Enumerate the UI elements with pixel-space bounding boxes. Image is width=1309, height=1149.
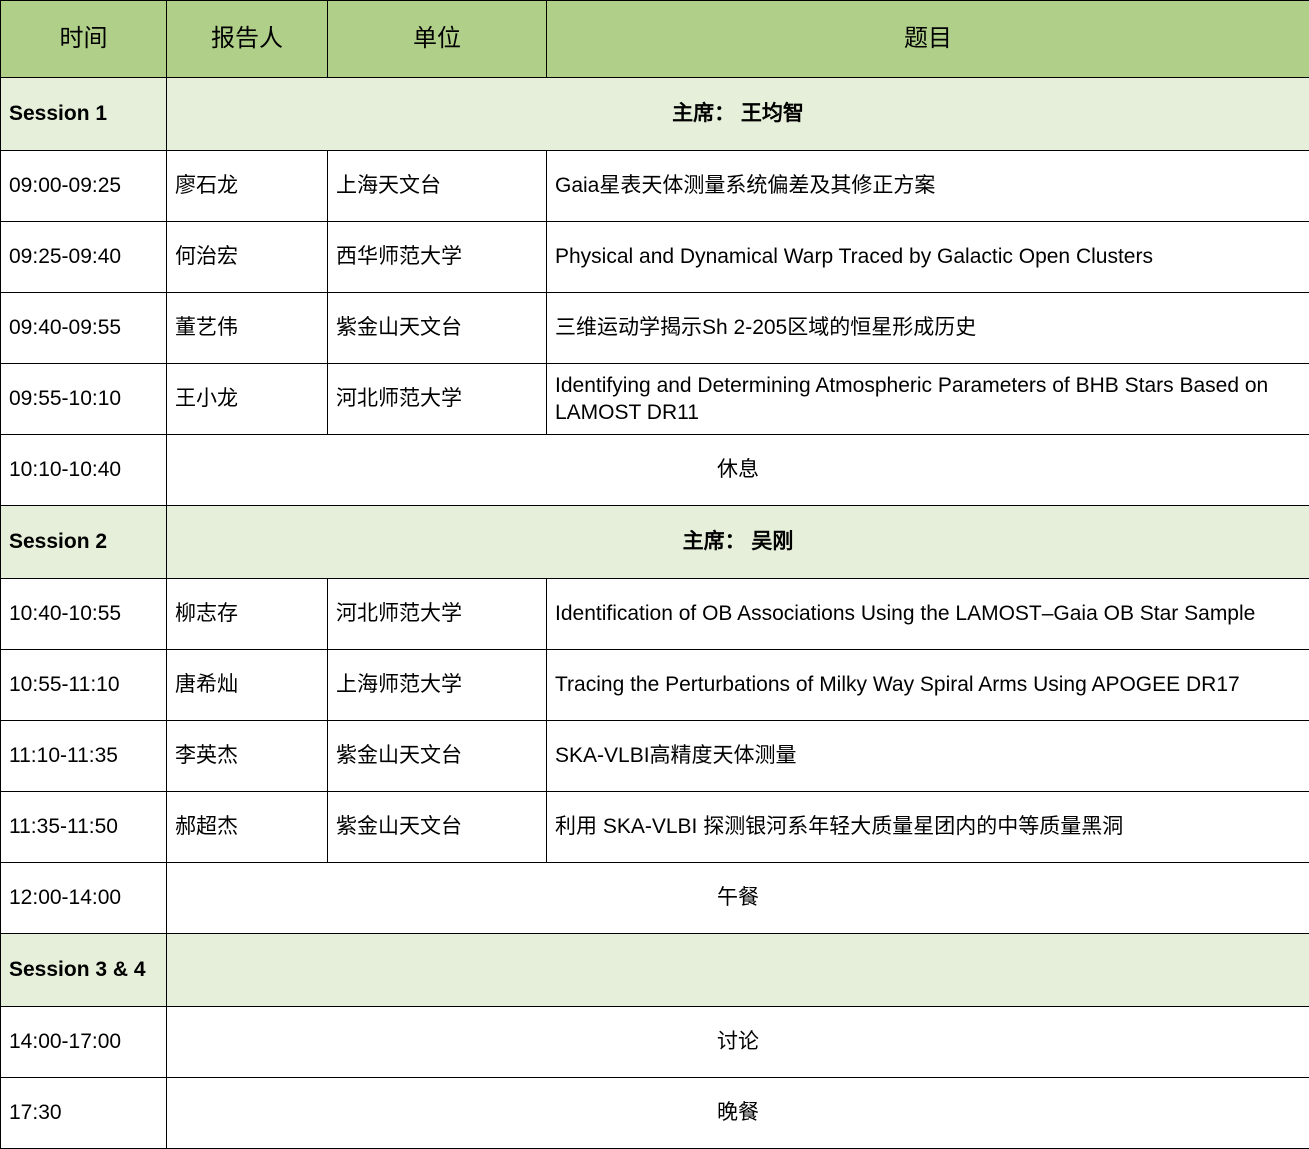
talk-speaker: 董艺伟 (167, 293, 328, 364)
talk-speaker: 唐希灿 (167, 650, 328, 721)
session-label-2: Session 2 (1, 506, 167, 579)
talk-speaker: 廖石龙 (167, 151, 328, 222)
table-row: 10:55-11:10 唐希灿 上海师范大学 Tracing the Pertu… (1, 650, 1309, 721)
break-label: 晚餐 (167, 1078, 1309, 1149)
talk-title: SKA-VLBI高精度天体测量 (547, 721, 1309, 792)
talk-affiliation: 河北师范大学 (328, 364, 547, 435)
break-label: 讨论 (167, 1007, 1309, 1078)
table-row: 09:00-09:25 廖石龙 上海天文台 Gaia星表天体测量系统偏差及其修正… (1, 151, 1309, 222)
break-time: 14:00-17:00 (1, 1007, 167, 1078)
break-row-dinner: 17:30 晚餐 (1, 1078, 1309, 1149)
table-row: 09:55-10:10 王小龙 河北师范大学 Identifying and D… (1, 364, 1309, 435)
session-chair-3-4 (167, 934, 1309, 1007)
talk-title: Identifying and Determining Atmospheric … (547, 364, 1309, 435)
table-row: 10:40-10:55 柳志存 河北师范大学 Identification of… (1, 579, 1309, 650)
table-header-row: 时间 报告人 单位 题目 (1, 1, 1309, 78)
column-header-name: 报告人 (167, 1, 328, 78)
talk-speaker: 郝超杰 (167, 792, 328, 863)
session-chair-1: 主席： 王均智 (167, 78, 1309, 151)
talk-time: 09:55-10:10 (1, 364, 167, 435)
talk-time: 09:40-09:55 (1, 293, 167, 364)
break-time: 17:30 (1, 1078, 167, 1149)
table-row: 09:40-09:55 董艺伟 紫金山天文台 三维运动学揭示Sh 2-205区域… (1, 293, 1309, 364)
talk-speaker: 李英杰 (167, 721, 328, 792)
break-label: 休息 (167, 435, 1309, 506)
session-label-1: Session 1 (1, 78, 167, 151)
talk-affiliation: 上海天文台 (328, 151, 547, 222)
session-banner-row-1: Session 1 主席： 王均智 (1, 78, 1309, 151)
talk-title: Tracing the Perturbations of Milky Way S… (547, 650, 1309, 721)
column-header-title: 题目 (547, 1, 1309, 78)
session-label-3-4: Session 3 & 4 (1, 934, 167, 1007)
talk-speaker: 王小龙 (167, 364, 328, 435)
conference-schedule-table: 时间 报告人 单位 题目 Session 1 主席： 王均智 09:00-09:… (0, 0, 1309, 1149)
talk-time: 09:25-09:40 (1, 222, 167, 293)
talk-affiliation: 上海师范大学 (328, 650, 547, 721)
table-row: 11:10-11:35 李英杰 紫金山天文台 SKA-VLBI高精度天体测量 (1, 721, 1309, 792)
talk-time: 09:00-09:25 (1, 151, 167, 222)
break-time: 10:10-10:40 (1, 435, 167, 506)
column-header-time: 时间 (1, 1, 167, 78)
talk-affiliation: 紫金山天文台 (328, 721, 547, 792)
talk-title: 三维运动学揭示Sh 2-205区域的恒星形成历史 (547, 293, 1309, 364)
talk-title: 利用 SKA-VLBI 探测银河系年轻大质量星团内的中等质量黑洞 (547, 792, 1309, 863)
session-chair-2: 主席： 吴刚 (167, 506, 1309, 579)
session-banner-row-3-4: Session 3 & 4 (1, 934, 1309, 1007)
talk-title: Gaia星表天体测量系统偏差及其修正方案 (547, 151, 1309, 222)
break-time: 12:00-14:00 (1, 863, 167, 934)
talk-affiliation: 西华师范大学 (328, 222, 547, 293)
talk-time: 11:10-11:35 (1, 721, 167, 792)
break-label: 午餐 (167, 863, 1309, 934)
talk-affiliation: 紫金山天文台 (328, 792, 547, 863)
talk-title: Identification of OB Associations Using … (547, 579, 1309, 650)
column-header-org: 单位 (328, 1, 547, 78)
table-row: 11:35-11:50 郝超杰 紫金山天文台 利用 SKA-VLBI 探测银河系… (1, 792, 1309, 863)
session-banner-row-2: Session 2 主席： 吴刚 (1, 506, 1309, 579)
talk-affiliation: 紫金山天文台 (328, 293, 547, 364)
talk-time: 10:40-10:55 (1, 579, 167, 650)
talk-affiliation: 河北师范大学 (328, 579, 547, 650)
break-row-discussion: 14:00-17:00 讨论 (1, 1007, 1309, 1078)
talk-title: Physical and Dynamical Warp Traced by Ga… (547, 222, 1309, 293)
talk-speaker: 柳志存 (167, 579, 328, 650)
talk-time: 10:55-11:10 (1, 650, 167, 721)
break-row-morning: 10:10-10:40 休息 (1, 435, 1309, 506)
talk-speaker: 何治宏 (167, 222, 328, 293)
table-row: 09:25-09:40 何治宏 西华师范大学 Physical and Dyna… (1, 222, 1309, 293)
talk-time: 11:35-11:50 (1, 792, 167, 863)
break-row-lunch: 12:00-14:00 午餐 (1, 863, 1309, 934)
